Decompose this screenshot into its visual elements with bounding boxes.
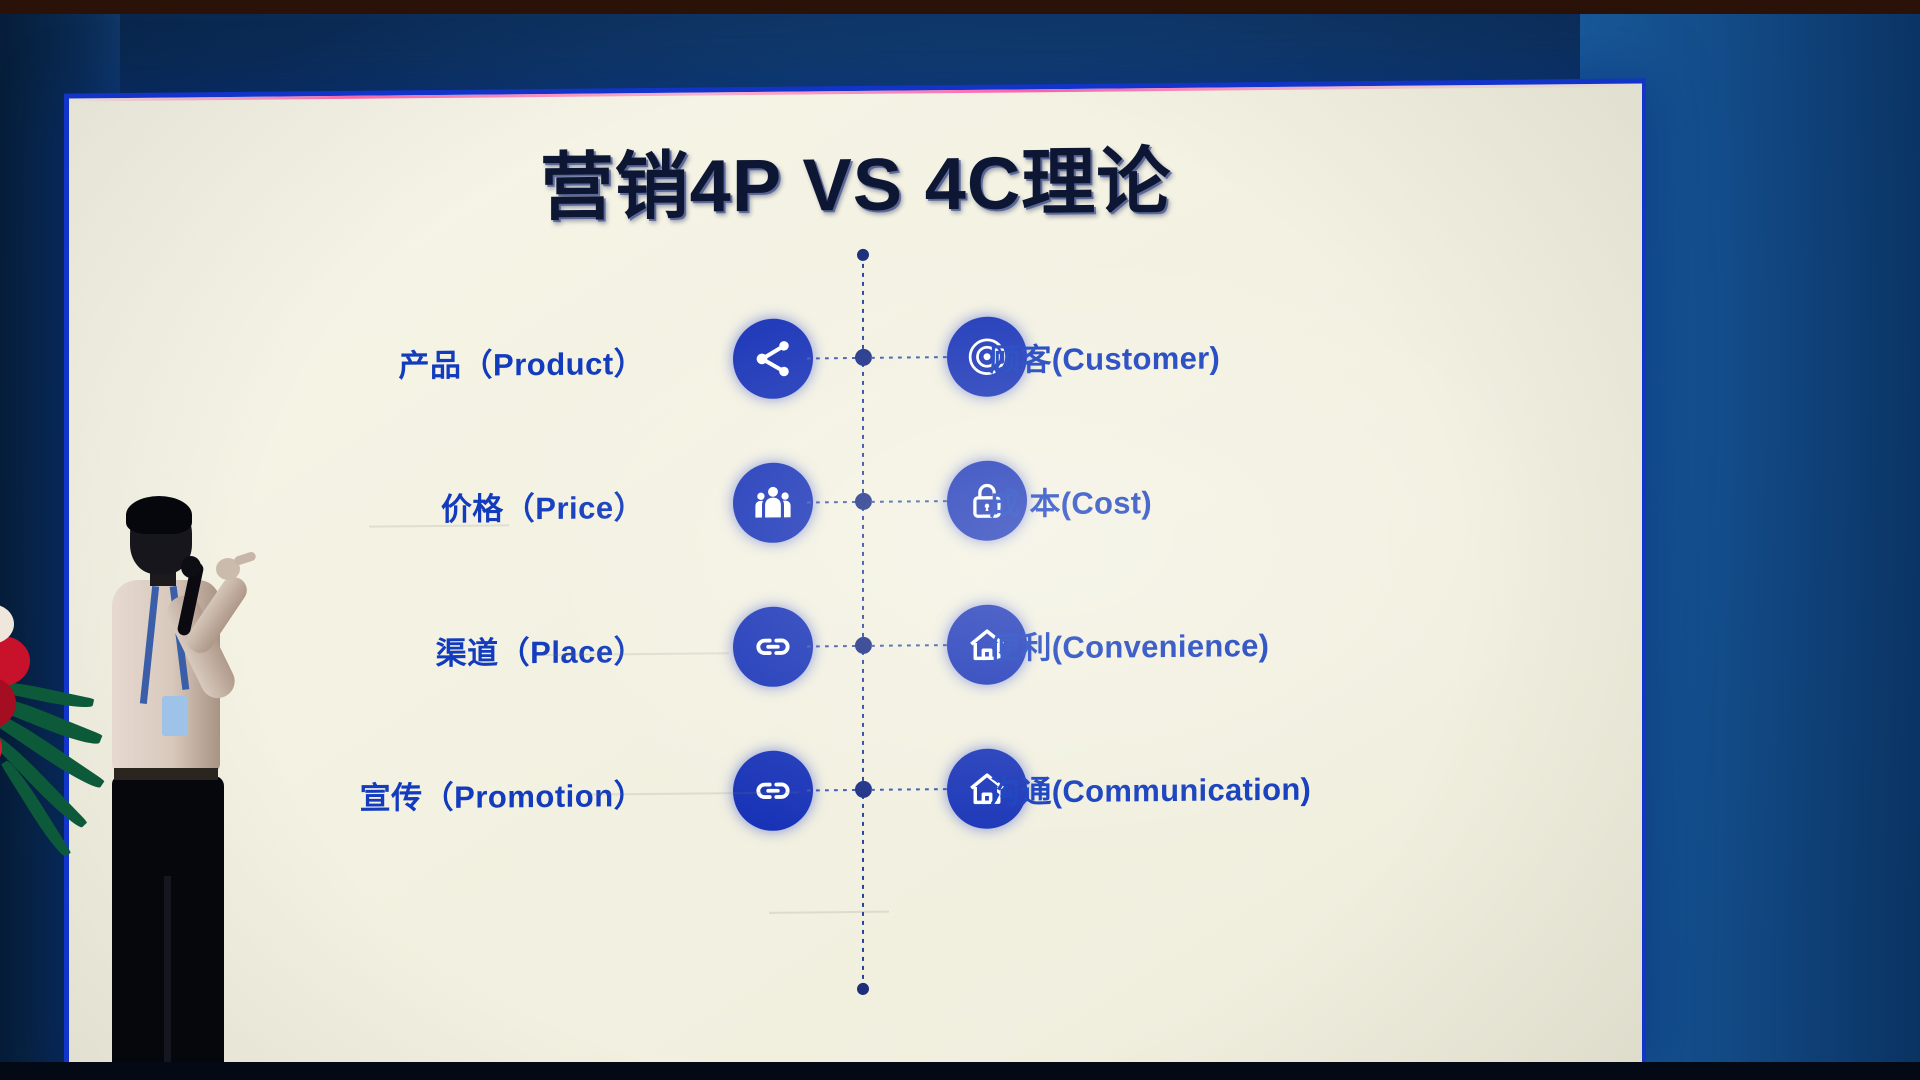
row-left-label: 价格（Price） [223,480,783,530]
spine-node-dot [855,637,872,654]
row-right-label: 沟通(Communication) [989,763,1311,811]
spine-node-dot [855,349,872,366]
connector-right [871,644,948,647]
diagram-row: 产品（Product） [69,285,1642,430]
spine-cap-top-dot [857,249,869,261]
presentation-slide: 营销4P VS 4C理论 产品（Product） [69,83,1642,1080]
four-p-four-c-diagram: 产品（Product） [69,233,1642,1038]
projection-screen: 营销4P VS 4C理论 产品（Product） [64,78,1646,1080]
connector-right [871,788,948,791]
connector-right [871,500,948,503]
spine-cap-bottom-dot [857,983,869,995]
diagram-row: 宣传（Promotion） [69,717,1642,862]
connector-right [871,356,948,359]
row-left-label: 产品（Product） [223,336,783,386]
share-icon [733,318,813,399]
people-group-icon [733,462,813,543]
row-right-label: 便利(Convenience) [989,620,1269,668]
link-chain-icon [733,606,813,687]
slide-title: 营销4P VS 4C理论 [69,117,1642,239]
stage-flower-arrangement [0,602,124,852]
spine-node-dot [855,781,872,798]
diagram-row: 价格（Price） [69,429,1642,574]
stage-floor [0,1062,1920,1080]
conference-stage: 营销4P VS 4C理论 产品（Product） [0,0,1920,1080]
ceiling-strip [0,0,1920,14]
row-right-label: 顾客(Customer) [989,332,1220,379]
spine-node-dot [855,493,872,510]
row-right-label: 成 本(Cost) [989,477,1152,524]
diagram-row: 渠道（Place） [69,573,1642,718]
row-left-label: 渠道（Place） [223,624,783,674]
